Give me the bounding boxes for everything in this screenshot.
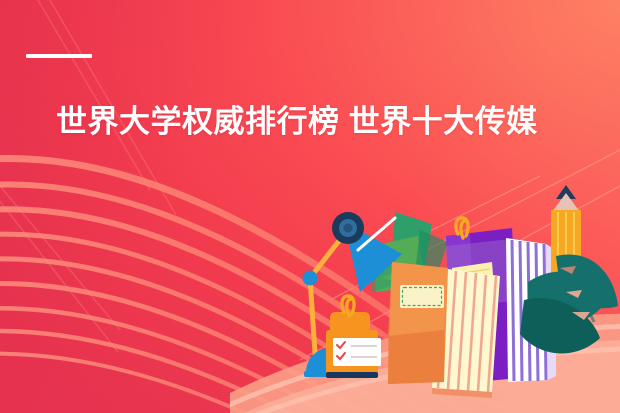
pencil-wood (552, 193, 580, 212)
clipboard-checklist-icon (326, 296, 381, 378)
stationery-desk-illustration (0, 0, 620, 413)
clipboard-base (326, 372, 378, 378)
paper-clip-purple-book-icon (456, 218, 468, 238)
orange-notebook-icon (388, 262, 448, 384)
promo-banner: 世界大学权威排行榜 世界十大传媒 (0, 0, 620, 413)
lamp-joint-icon (303, 271, 318, 286)
clipboard-paper (333, 338, 381, 366)
paper-clip-clipboard-icon (342, 296, 354, 316)
